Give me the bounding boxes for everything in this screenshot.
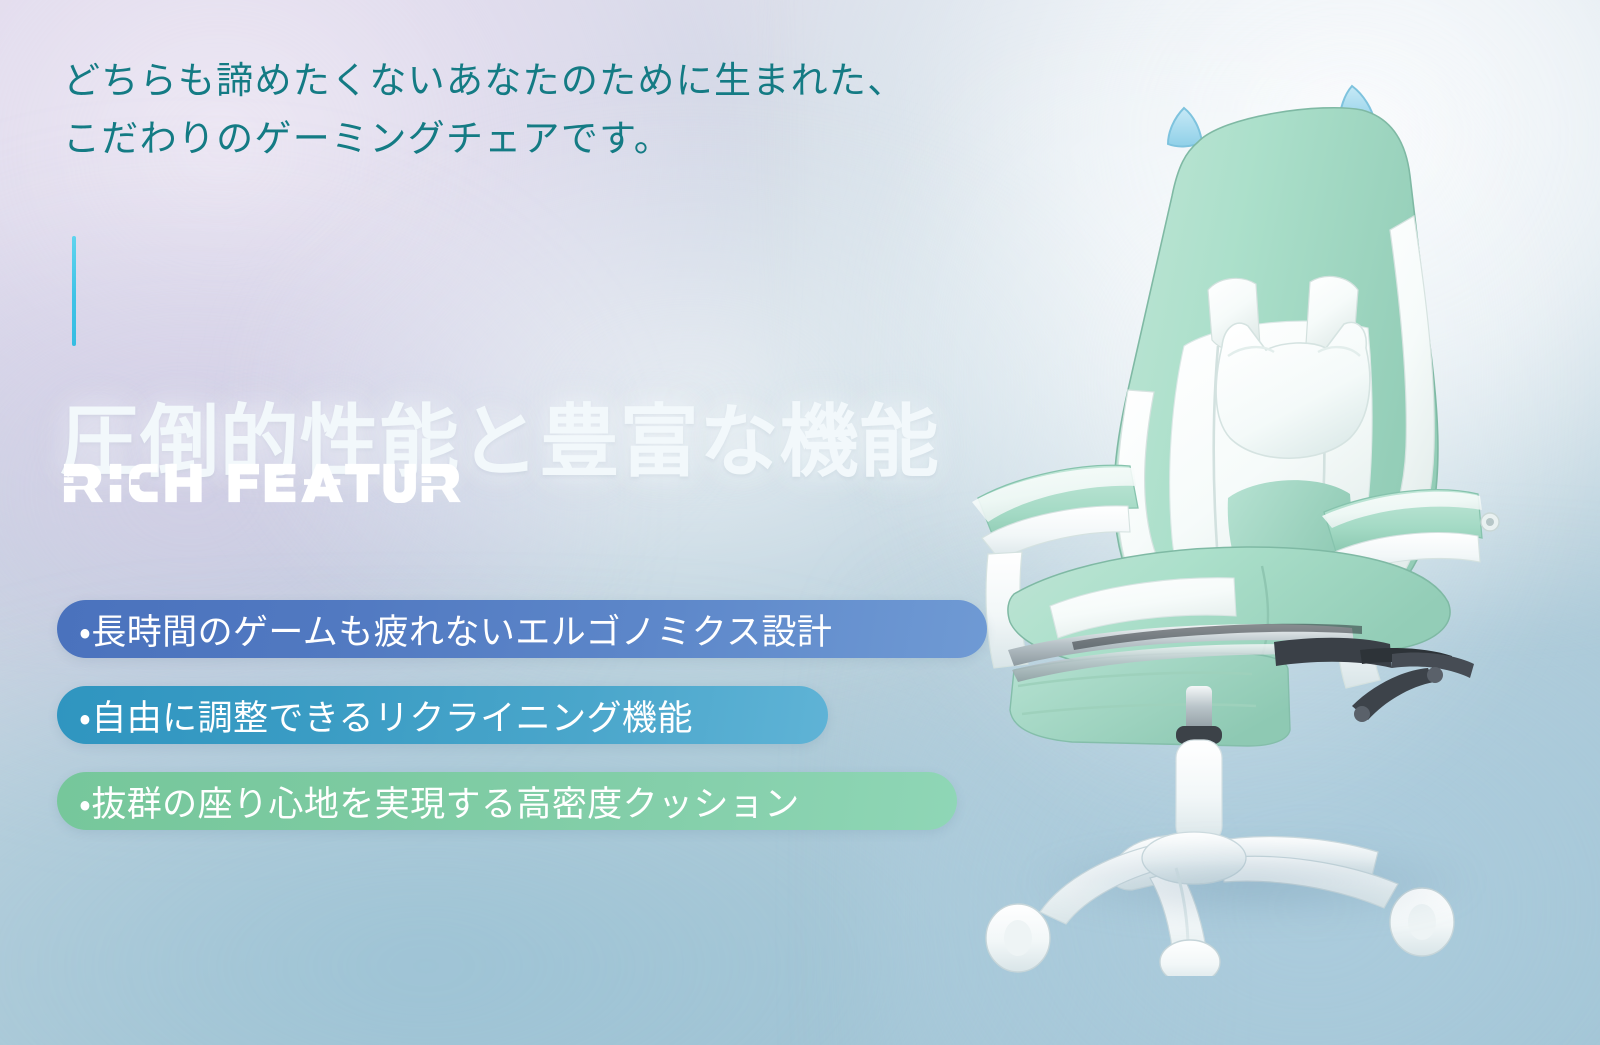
rich-features-stencil-text [62,460,464,504]
cat-ear-left [1168,108,1202,146]
feature-pill-reclining: ・自由に調整できるリクライニング機能 [57,686,828,744]
subtitle-rich-features [62,460,464,504]
cat-headrest-pillow [1216,322,1370,458]
accent-rule [72,236,76,346]
caster-wheel-center [1160,940,1220,976]
feature-pill-cushion: ・抜群の座り心地を実現する高密度クッション [57,772,957,830]
product-drop-shadow [1037,846,1467,918]
copy-block: どちらも諦めたくないあなたのために生まれた、 こだわりのゲーミングチェアです。 … [0,0,1050,1045]
lead-copy: どちらも諦めたくないあなたのために生まれた、 こだわりのゲーミングチェアです。 [63,52,983,169]
product-feature-banner: どちらも諦めたくないあなたのために生まれた、 こだわりのゲーミングチェアです。 … [0,0,1600,1045]
feature-pill-ergonomic: ・長時間のゲームも疲れないエルゴノミクス設計 [57,600,987,658]
